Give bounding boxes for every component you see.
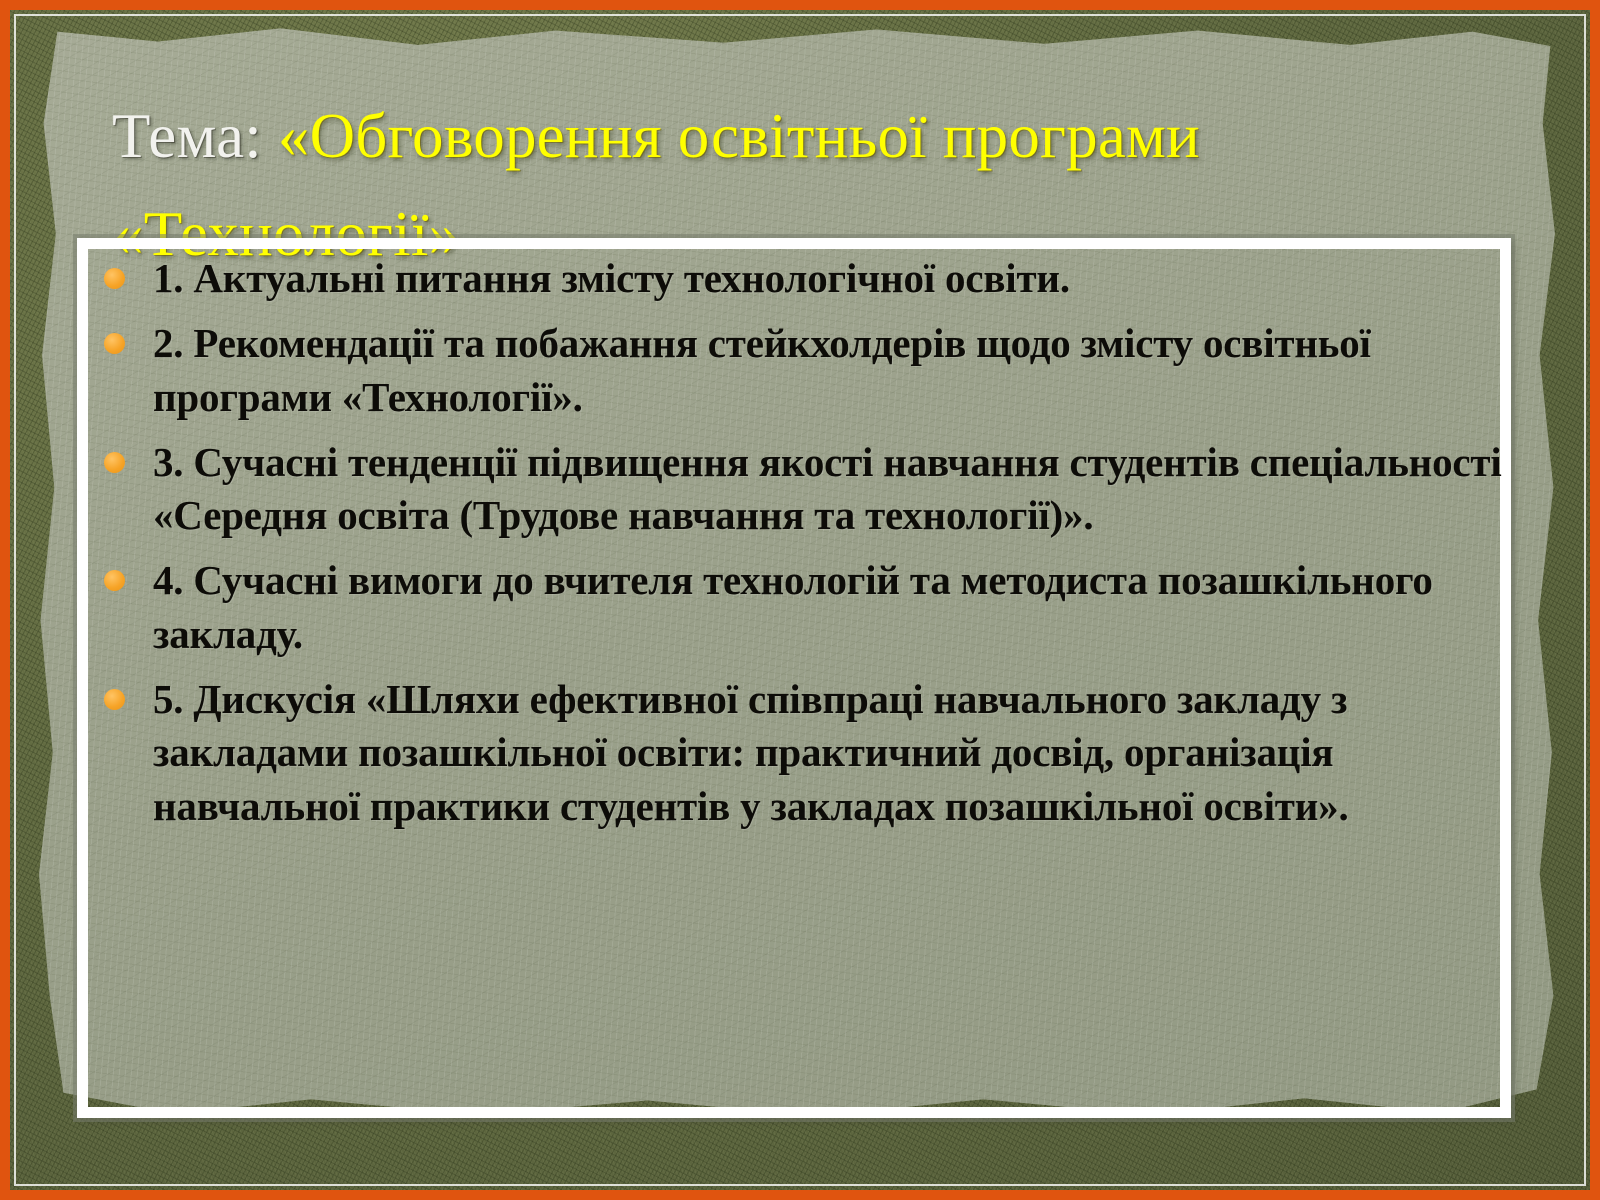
title-lead-text: Тема:: [112, 101, 262, 171]
bullet-dot-icon: [104, 570, 125, 591]
bullet-dot-icon: [104, 452, 125, 473]
bullet-dot-icon: [104, 268, 125, 289]
bullet-dot-icon: [104, 333, 125, 354]
list-item: 1. Актуальні питання змісту технологічно…: [96, 252, 1506, 305]
list-item-text: 4. Сучасні вимоги до вчителя технологій …: [153, 557, 1433, 656]
list-item: 5. Дискусія «Шляхи ефективної співпраці …: [96, 673, 1506, 833]
list-item-text: 1. Актуальні питання змісту технологічно…: [153, 255, 1070, 301]
list-item: 3. Сучасні тенденції підвищення якості н…: [96, 436, 1506, 543]
list-item-text: 3. Сучасні тенденції підвищення якості н…: [153, 439, 1502, 538]
list-item: 4. Сучасні вимоги до вчителя технологій …: [96, 554, 1506, 661]
bullet-dot-icon: [104, 689, 125, 710]
list-item-text: 5. Дискусія «Шляхи ефективної співпраці …: [153, 676, 1349, 829]
agenda-list: 1. Актуальні питання змісту технологічно…: [96, 252, 1506, 833]
presentation-slide: Тема: «Обговорення освітньої програми «Т…: [0, 0, 1600, 1200]
list-item-text: 2. Рекомендації та побажання стейкхолдер…: [153, 320, 1371, 419]
list-item: 2. Рекомендації та побажання стейкхолдер…: [96, 317, 1506, 424]
